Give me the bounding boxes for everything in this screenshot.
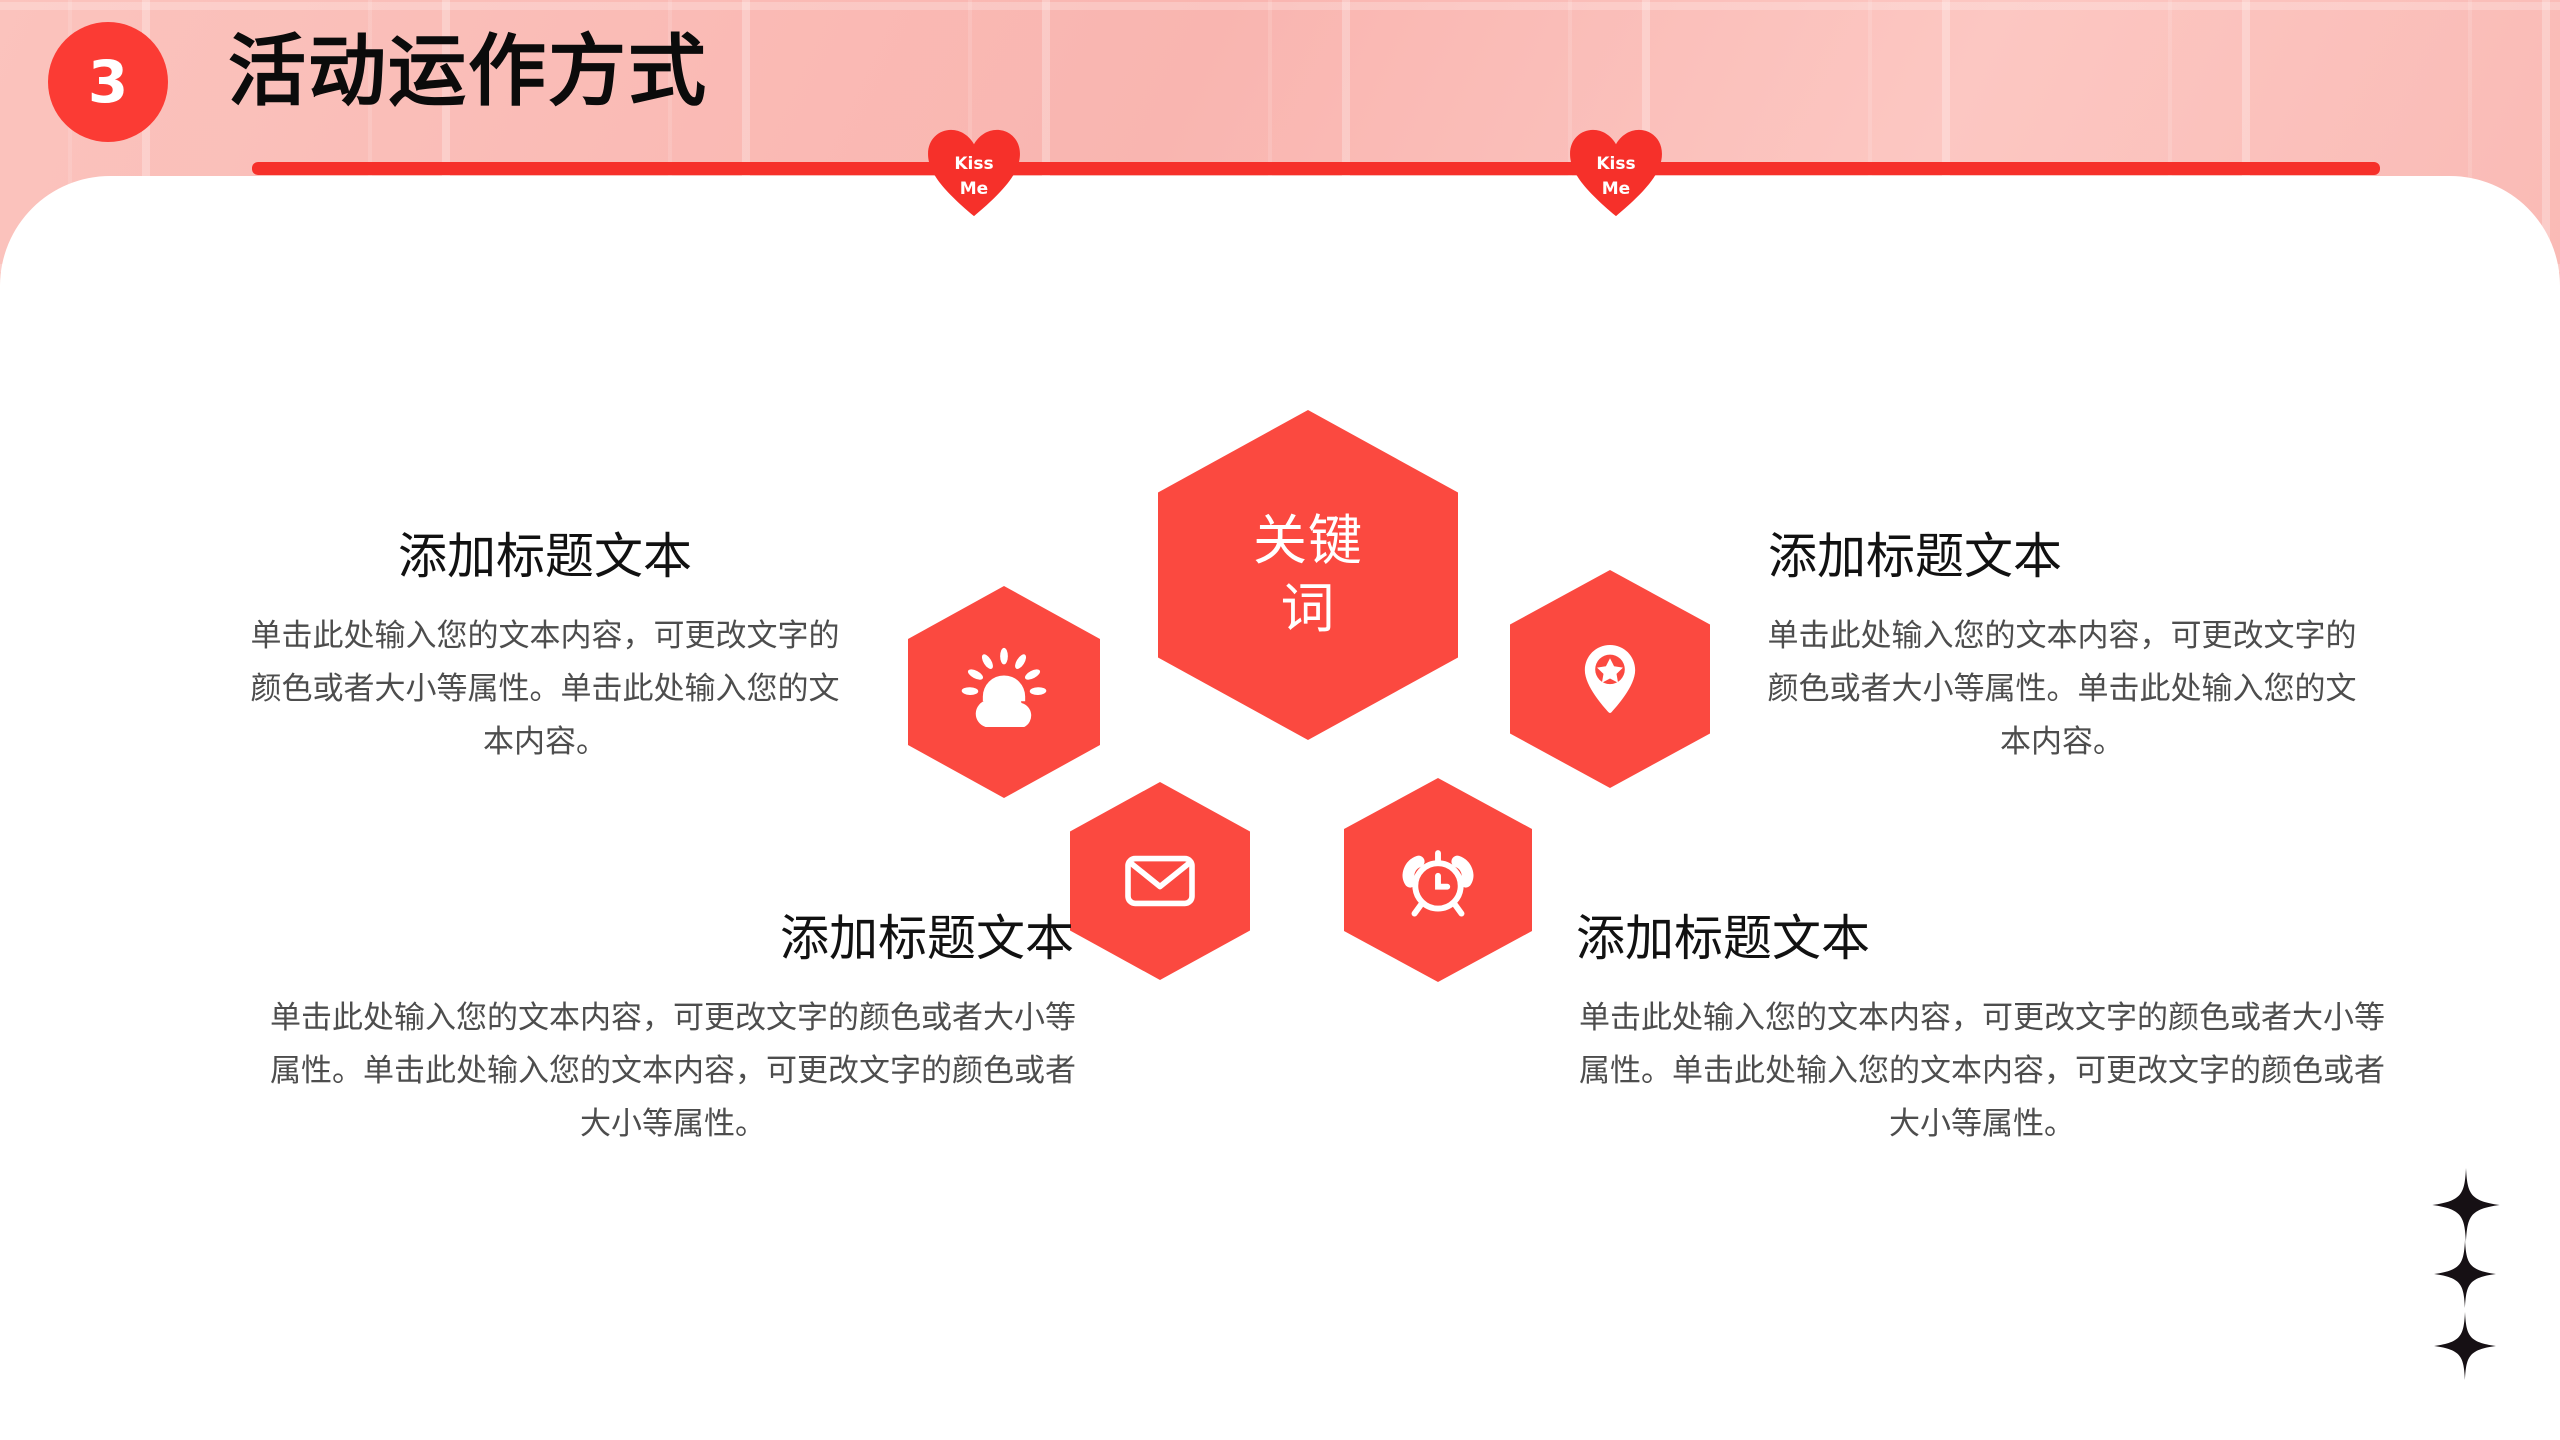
text-block-right: 添加标题文本 单击此处输入您的文本内容，可更改文字的颜色或者大小等属性。单击此处… <box>1762 528 2362 769</box>
four-point-star-icon <box>2434 1312 2496 1380</box>
heart-decoration-right: Kiss Me <box>1568 128 1664 218</box>
block-body-right: 单击此处输入您的文本内容，可更改文字的颜色或者大小等属性。单击此处输入您的文本内… <box>1762 609 2362 769</box>
map-pin-star-icon <box>1573 642 1647 716</box>
text-block-bottom-left: 添加标题文本 单击此处输入您的文本内容，可更改文字的颜色或者大小等属性。单击此处… <box>268 910 1078 1151</box>
envelope-icon <box>1120 841 1200 921</box>
slide: 3 活动运作方式 Kiss Me Kiss Me 关键词 <box>0 0 2560 1440</box>
text-block-bottom-right: 添加标题文本 单击此处输入您的文本内容，可更改文字的颜色或者大小等属性。单击此处… <box>1572 910 2392 1151</box>
heart-icon <box>926 128 1022 218</box>
alarm-clock-icon <box>1396 838 1480 922</box>
block-body-left: 单击此处输入您的文本内容，可更改文字的颜色或者大小等属性。单击此处输入您的文本内… <box>248 609 842 769</box>
content-panel <box>0 176 2560 1440</box>
four-point-star-icon <box>2434 1240 2496 1308</box>
sun-cloud-icon <box>958 646 1050 738</box>
sparkle-decoration-group <box>2418 1168 2538 1398</box>
heart-icon <box>1568 128 1664 218</box>
block-title-right: 添加标题文本 <box>1762 528 2362 587</box>
sparkle-icon-3 <box>2434 1312 2496 1380</box>
block-title-bottom-right: 添加标题文本 <box>1572 910 2392 969</box>
sparkle-icon-1 <box>2432 1168 2500 1242</box>
block-body-bottom-right: 单击此处输入您的文本内容，可更改文字的颜色或者大小等属性。单击此处输入您的文本内… <box>1572 991 2392 1151</box>
sparkle-icon-2 <box>2434 1240 2496 1308</box>
block-body-bottom-left: 单击此处输入您的文本内容，可更改文字的颜色或者大小等属性。单击此处输入您的文本内… <box>268 991 1078 1151</box>
four-point-star-icon <box>2432 1168 2500 1242</box>
block-title-bottom-left: 添加标题文本 <box>268 910 1078 969</box>
page-title: 活动运作方式 <box>228 30 708 113</box>
hexagon-keyword-label: 关键词 <box>1246 507 1370 643</box>
title-underline-rule <box>252 162 2380 175</box>
section-number-badge: 3 <box>48 22 168 142</box>
block-title-left: 添加标题文本 <box>248 528 842 587</box>
section-number-text: 3 <box>88 53 128 111</box>
text-block-left: 添加标题文本 单击此处输入您的文本内容，可更改文字的颜色或者大小等属性。单击此处… <box>248 528 842 769</box>
heart-decoration-left: Kiss Me <box>926 128 1022 218</box>
